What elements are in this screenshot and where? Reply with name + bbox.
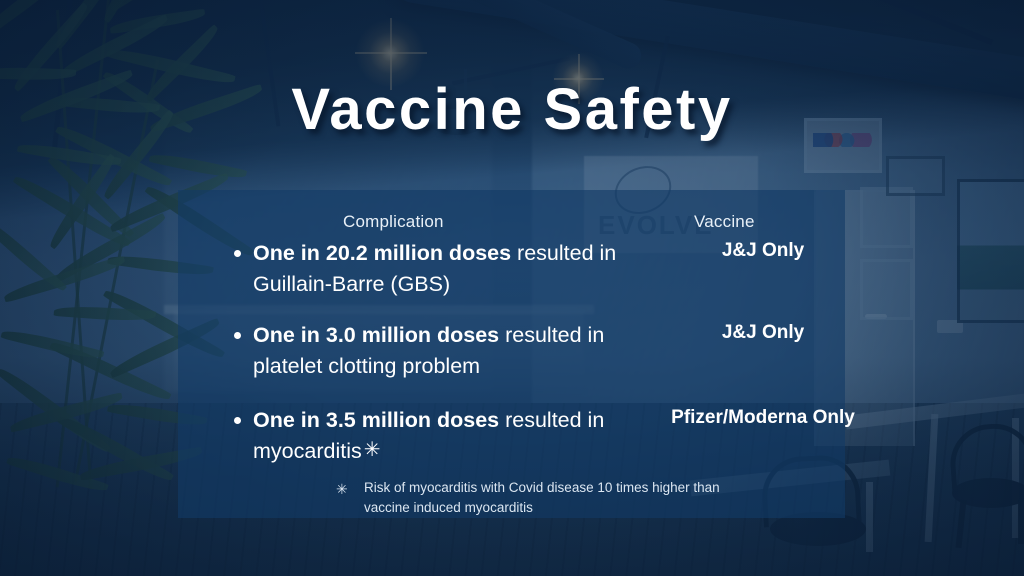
content-panel: Complication Vaccine One in 20.2 million… xyxy=(178,190,845,518)
complication-emphasis: One in 20.2 million doses xyxy=(253,241,511,265)
bullet-dot-icon xyxy=(234,332,241,339)
page-title: Vaccine Safety xyxy=(0,76,1024,143)
complication-emphasis: One in 3.5 million doses xyxy=(253,408,499,432)
footnote-marker-icon: ✳ xyxy=(362,439,381,461)
slide-canvas: EVOLVE xyxy=(0,0,1024,576)
footnote-text: Risk of myocarditis with Covid disease 1… xyxy=(364,478,736,519)
complication-text: One in 3.0 million doses resulted in pla… xyxy=(253,320,648,381)
bullet-dot-icon xyxy=(234,250,241,257)
vaccine-value: Pfizer/Moderna Only xyxy=(598,407,928,429)
bullet-dot-icon xyxy=(234,417,241,424)
complication-text: One in 20.2 million doses resulted in Gu… xyxy=(253,238,648,299)
vaccine-value: J&J Only xyxy=(618,240,908,262)
footnote: ✳ Risk of myocarditis with Covid disease… xyxy=(336,478,736,519)
footnote-asterisk-icon: ✳ xyxy=(336,479,348,500)
complication-text: One in 3.5 million doses resulted in myo… xyxy=(253,405,648,466)
column-header-vaccine: Vaccine xyxy=(694,212,755,232)
column-header-complication: Complication xyxy=(343,212,444,232)
vaccine-value: J&J Only xyxy=(618,322,908,344)
complication-emphasis: One in 3.0 million doses xyxy=(253,323,499,347)
